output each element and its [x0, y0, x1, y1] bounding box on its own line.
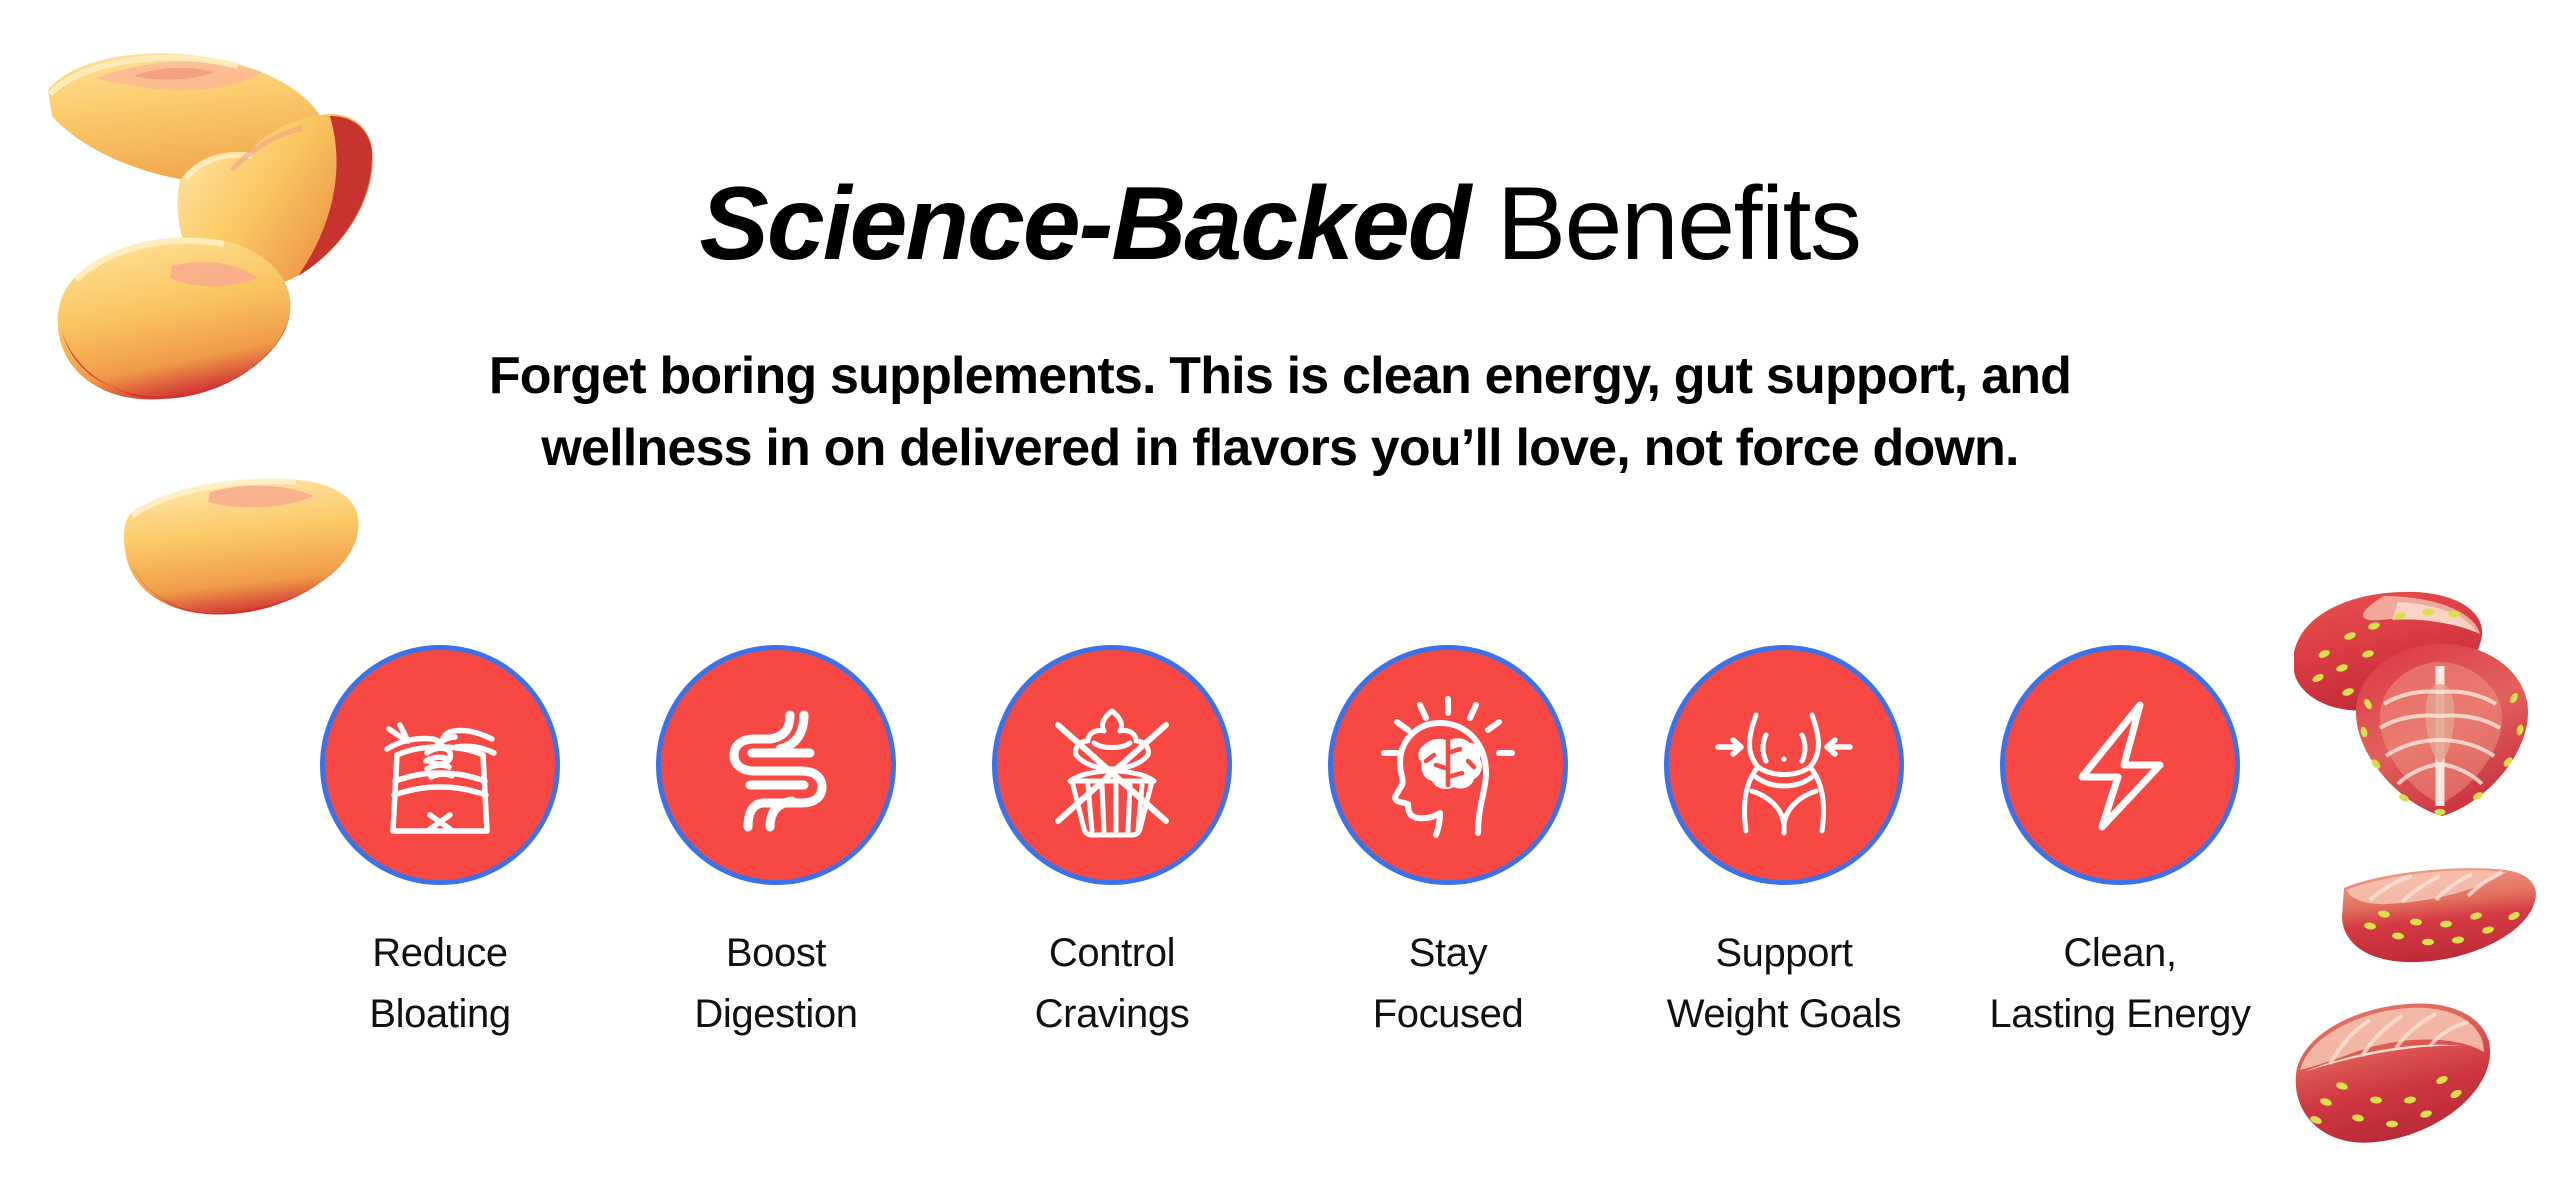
benefit-item-support-weight-goals[interactable]: Support Weight Goals: [1629, 645, 1939, 1045]
benefit-item-stay-focused[interactable]: Stay Focused: [1293, 645, 1603, 1045]
strawberry-slice-2: [2352, 640, 2532, 820]
benefit-icon-circle: [320, 645, 560, 885]
strawberry-slice-1: [2288, 588, 2488, 718]
subtitle-line-2: wellness in on delivered in flavors you’…: [340, 412, 2220, 484]
peach-slice-4: [118, 472, 368, 622]
page-title-emphasis: Science-Backed: [700, 166, 1470, 282]
benefit-item-control-cravings[interactable]: Control Cravings: [957, 645, 1267, 1045]
benefit-label-line-2: Bloating: [369, 984, 510, 1045]
benefit-icon-circle: [992, 645, 1232, 885]
slim-waist-arrows-icon: [1700, 681, 1868, 849]
benefit-item-reduce-bloating[interactable]: Reduce Bloating: [285, 645, 595, 1045]
benefit-icon-circle: [1664, 645, 1904, 885]
benefit-label: Boost Digestion: [694, 923, 857, 1045]
benefit-label-line-2: Lasting Energy: [1989, 984, 2250, 1045]
subtitle: Forget boring supplements. This is clean…: [340, 340, 2220, 484]
benefit-label: Control Cravings: [1035, 923, 1190, 1045]
benefit-label-line-2: Focused: [1373, 984, 1524, 1045]
strawberry-slice-4: [2286, 1000, 2496, 1150]
subtitle-line-1: Forget boring supplements. This is clean…: [340, 340, 2220, 412]
benefit-icon-circle: [656, 645, 896, 885]
benefit-item-boost-digestion[interactable]: Boost Digestion: [621, 645, 931, 1045]
benefit-label-line-1: Control: [1035, 923, 1190, 984]
benefit-label: Support Weight Goals: [1667, 923, 1902, 1045]
benefit-icon-circle: [2000, 645, 2240, 885]
page-title-rest: Benefits: [1469, 166, 1860, 282]
page-title: Science-Backed Benefits: [0, 168, 2560, 280]
strawberry-slice-3: [2340, 860, 2540, 970]
benefit-label-line-2: Digestion: [694, 984, 857, 1045]
benefits-list: Reduce Bloating Boost Diges: [285, 645, 2275, 1045]
benefit-label: Clean, Lasting Energy: [1989, 923, 2250, 1045]
benefit-label-line-1: Support: [1667, 923, 1902, 984]
benefit-label-line-1: Boost: [694, 923, 857, 984]
hands-on-belly-icon: [356, 681, 524, 849]
lightning-bolt-icon: [2036, 681, 2204, 849]
benefits-section: Science-Backed Benefits Forget boring su…: [0, 0, 2560, 1200]
benefit-label: Stay Focused: [1373, 923, 1524, 1045]
head-brain-icon: [1364, 681, 1532, 849]
no-cupcake-icon: [1028, 681, 1196, 849]
intestines-icon: [692, 681, 860, 849]
benefit-label: Reduce Bloating: [369, 923, 510, 1045]
benefit-icon-circle: [1328, 645, 1568, 885]
benefit-item-clean-lasting-energy[interactable]: Clean, Lasting Energy: [1965, 645, 2275, 1045]
benefit-label-line-1: Clean,: [1989, 923, 2250, 984]
benefit-label-line-1: Reduce: [369, 923, 510, 984]
benefit-label-line-1: Stay: [1373, 923, 1524, 984]
benefit-label-line-2: Cravings: [1035, 984, 1190, 1045]
benefit-label-line-2: Weight Goals: [1667, 984, 1902, 1045]
